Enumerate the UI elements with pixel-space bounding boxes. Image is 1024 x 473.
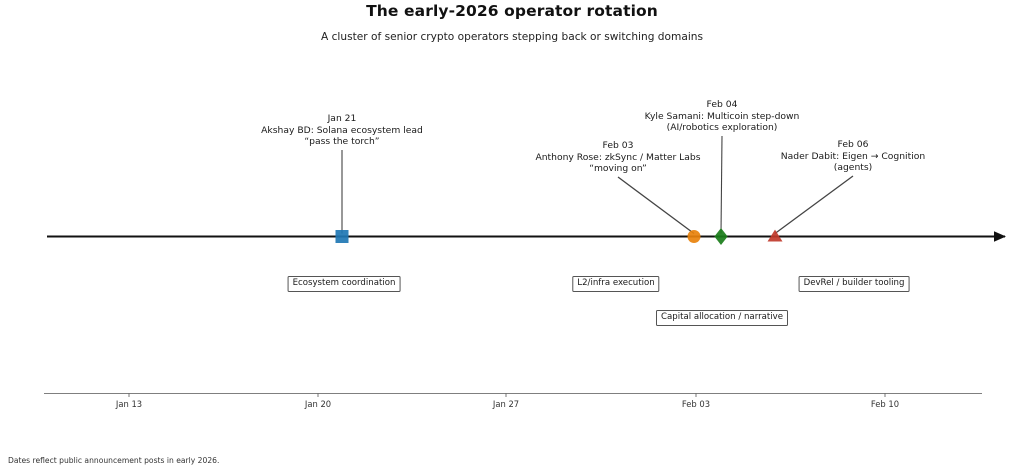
leader-line — [618, 177, 694, 234]
footnote: Dates reflect public announcement posts … — [8, 456, 219, 465]
event-date: Feb 04 — [645, 99, 800, 111]
event-date: Feb 06 — [781, 139, 925, 151]
event-person: Akshay BD: Solana ecosystem lead — [261, 125, 423, 137]
event-marker-square[interactable] — [336, 230, 349, 243]
axis-tick-label: Jan 27 — [493, 399, 519, 409]
event-annotation: Feb 06Nader Dabit: Eigen → Cognition(age… — [781, 139, 925, 174]
event-quote: (agents) — [781, 162, 925, 174]
category-badge: DevRel / builder tooling — [799, 276, 910, 292]
event-date: Jan 21 — [261, 113, 423, 125]
event-annotation: Feb 03Anthony Rose: zkSync / Matter Labs… — [535, 140, 700, 175]
axis-tick-label: Feb 10 — [871, 399, 899, 409]
axis-tick-label: Jan 13 — [116, 399, 142, 409]
event-annotation: Feb 04Kyle Samani: Multicoin step-down(A… — [645, 99, 800, 134]
event-annotation: Jan 21Akshay BD: Solana ecosystem lead“p… — [261, 113, 423, 148]
axis-tick-label: Jan 20 — [305, 399, 331, 409]
event-quote: “moving on” — [535, 163, 700, 175]
timeline-figure: The early-2026 operator rotation A clust… — [0, 0, 1024, 473]
category-badge: L2/infra execution — [572, 276, 659, 292]
category-badge: Ecosystem coordination — [288, 276, 401, 292]
leader-line — [721, 136, 722, 234]
event-person: Nader Dabit: Eigen → Cognition — [781, 151, 925, 163]
axis-tick-label: Feb 03 — [682, 399, 710, 409]
event-date: Feb 03 — [535, 140, 700, 152]
axis-ticks — [129, 394, 885, 398]
leader-line — [775, 176, 853, 234]
event-quote: (AI/robotics exploration) — [645, 122, 800, 134]
event-marker-diamond[interactable] — [714, 228, 727, 245]
event-person: Kyle Samani: Multicoin step-down — [645, 111, 800, 123]
category-badge: Capital allocation / narrative — [656, 310, 788, 326]
event-person: Anthony Rose: zkSync / Matter Labs — [535, 152, 700, 164]
event-marker-circle[interactable] — [688, 230, 701, 243]
event-quote: “pass the torch” — [261, 136, 423, 148]
